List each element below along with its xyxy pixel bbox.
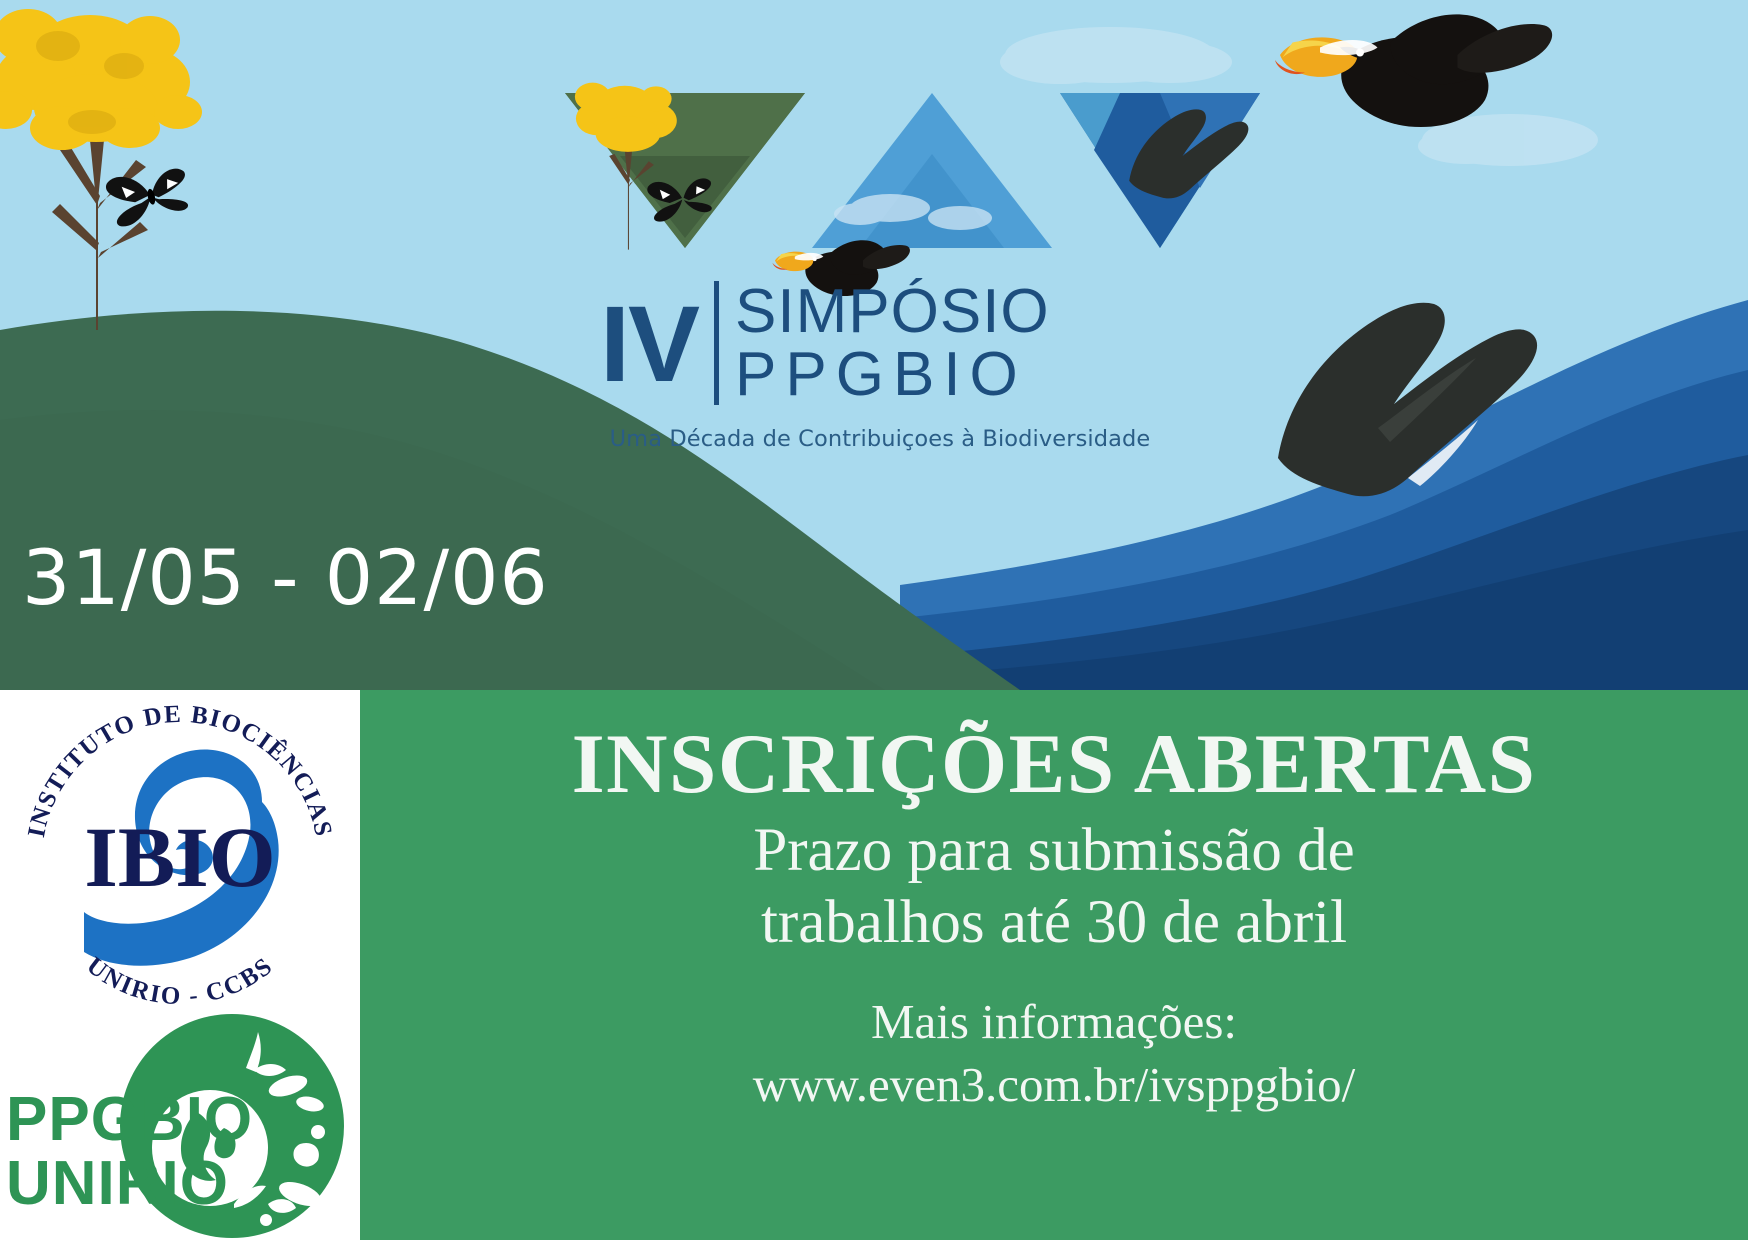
- announcement-text: INSCRIÇÕES ABERTAS Prazo para submissão …: [360, 690, 1748, 1240]
- ibio-logo: IBIO INSTITUTO DE BIOCIÊNCIAS UNIRIO - C…: [0, 690, 360, 1008]
- svg-text:UNIRIO: UNIRIO: [6, 1149, 229, 1218]
- announcement-headline: INSCRIÇÕES ABERTAS: [572, 720, 1537, 809]
- logo-divider: [714, 281, 719, 405]
- institution-logos-column: IBIO INSTITUTO DE BIOCIÊNCIAS UNIRIO - C…: [0, 690, 360, 1240]
- announcement-subline-1: Prazo para submissão de: [753, 815, 1354, 887]
- svg-text:PPGBIO: PPGBIO: [6, 1085, 253, 1154]
- event-logo-lockup: IV SIMPÓSIO PPGBIO Uma Década de Contrib…: [600, 90, 1160, 490]
- logo-line-ppgbio: PPGBIO: [735, 343, 1050, 406]
- event-tagline: Uma Década de Contribuiçoes à Biodiversi…: [600, 426, 1160, 452]
- ppgbio-wordmark: PPGBIO UNIRIO: [6, 1085, 253, 1218]
- ppgbio-logo: PPGBIO UNIRIO: [0, 1008, 360, 1240]
- event-dates: 31/05 - 02/06: [22, 540, 549, 616]
- roman-numeral: IV: [600, 294, 714, 393]
- event-url[interactable]: www.even3.com.br/ivsppgbio/: [753, 1056, 1355, 1115]
- announcement-subline-2: trabalhos até 30 de abril: [761, 887, 1347, 959]
- more-info-label: Mais informações:: [871, 993, 1237, 1052]
- event-poster: IV SIMPÓSIO PPGBIO Uma Década de Contrib…: [0, 0, 1748, 1240]
- ibio-center-text: IBIO: [84, 809, 275, 905]
- ibio-logo-svg: IBIO INSTITUTO DE BIOCIÊNCIAS UNIRIO - C…: [0, 690, 360, 1008]
- ppgbio-logo-svg: PPGBIO UNIRIO: [0, 1008, 360, 1240]
- logo-line-simposio: SIMPÓSIO: [735, 280, 1050, 343]
- event-wordmark: IV SIMPÓSIO PPGBIO: [600, 280, 1160, 406]
